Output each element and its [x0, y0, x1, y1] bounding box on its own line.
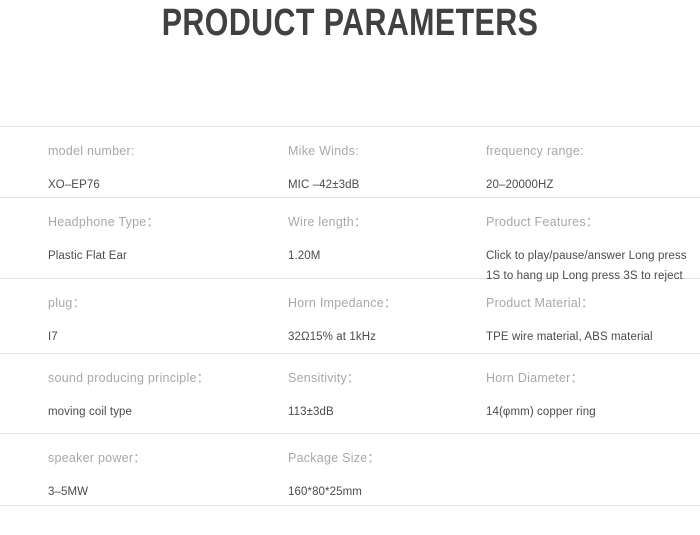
- spec-value-line: 32Ω15% at 1kHz: [288, 327, 480, 347]
- spec-value: 1.20M: [288, 246, 480, 266]
- spec-label: Headphone Type：: [48, 214, 280, 230]
- spec-cell: Mike Winds:MIC –42±3dB: [288, 143, 480, 195]
- spec-value-line: XO–EP76: [48, 175, 280, 195]
- spec-cell: plug：I7: [48, 295, 280, 347]
- table-row-cells: plug：I7Horn Impedance：32Ω15% at 1kHzProd…: [0, 295, 700, 340]
- spec-cell: speaker power：3–5MW: [48, 450, 280, 502]
- spec-cell: Wire length：1.20M: [288, 214, 480, 266]
- spec-value: XO–EP76: [48, 175, 280, 195]
- spec-value: Plastic Flat Ear: [48, 246, 280, 266]
- spec-label: Wire length：: [288, 214, 480, 230]
- spec-cell: Package Size：160*80*25mm: [288, 450, 480, 502]
- spec-cell: model number:XO–EP76: [48, 143, 280, 195]
- specification-table: model number:XO–EP76Mike Winds:MIC –42±3…: [0, 126, 700, 506]
- spec-cell: Headphone Type：Plastic Flat Ear: [48, 214, 280, 266]
- spec-label: speaker power：: [48, 450, 280, 466]
- spec-value: 20–20000HZ: [486, 175, 700, 195]
- spec-cell: Product Material：TPE wire material, ABS …: [486, 295, 700, 347]
- spec-label: Package Size：: [288, 450, 480, 466]
- spec-label: Horn Diameter：: [486, 370, 700, 386]
- table-row-cells: speaker power：3–5MWPackage Size：160*80*2…: [0, 450, 700, 492]
- table-row-cells: Headphone Type：Plastic Flat EarWire leng…: [0, 214, 700, 265]
- table-row: Headphone Type：Plastic Flat EarWire leng…: [0, 198, 700, 279]
- spec-cell: Product Features：Click to play/pause/ans…: [486, 214, 700, 286]
- table-row: model number:XO–EP76Mike Winds:MIC –42±3…: [0, 126, 700, 198]
- table-row: sound producing principle：moving coil ty…: [0, 354, 700, 434]
- spec-label: Product Features：: [486, 214, 700, 230]
- table-row: speaker power：3–5MWPackage Size：160*80*2…: [0, 434, 700, 506]
- spec-label: sound producing principle：: [48, 370, 280, 386]
- spec-cell: Horn Impedance：32Ω15% at 1kHz: [288, 295, 480, 347]
- spec-cell: Horn Diameter：14(φmm) copper ring: [486, 370, 700, 422]
- spec-label: Mike Winds:: [288, 143, 480, 159]
- spec-value: I7: [48, 327, 280, 347]
- spec-label: Horn Impedance：: [288, 295, 480, 311]
- spec-value: TPE wire material, ABS material: [486, 327, 700, 347]
- spec-value-line: Plastic Flat Ear: [48, 246, 280, 266]
- spec-value: 3–5MW: [48, 482, 280, 502]
- spec-value-line: MIC –42±3dB: [288, 175, 480, 195]
- spec-label: Sensitivity：: [288, 370, 480, 386]
- spec-label: model number:: [48, 143, 280, 159]
- spec-value-line: 160*80*25mm: [288, 482, 480, 502]
- spec-value-line: Click to play/pause/answer Long press: [486, 246, 700, 266]
- spec-value-line: TPE wire material, ABS material: [486, 327, 700, 347]
- page-title: PRODUCT PARAMETERS: [70, 1, 630, 45]
- spec-label: frequency range:: [486, 143, 700, 159]
- spec-label: plug：: [48, 295, 280, 311]
- spec-value: 113±3dB: [288, 402, 480, 422]
- table-row: plug：I7Horn Impedance：32Ω15% at 1kHzProd…: [0, 279, 700, 354]
- spec-value-line: 14(φmm) copper ring: [486, 402, 700, 422]
- spec-value: 14(φmm) copper ring: [486, 402, 700, 422]
- table-row-cells: sound producing principle：moving coil ty…: [0, 370, 700, 420]
- spec-value-line: I7: [48, 327, 280, 347]
- product-parameters-page: PRODUCT PARAMETERS model number:XO–EP76M…: [0, 0, 700, 535]
- spec-value-line: 113±3dB: [288, 402, 480, 422]
- spec-cell: Sensitivity：113±3dB: [288, 370, 480, 422]
- spec-value: 160*80*25mm: [288, 482, 480, 502]
- spec-value-line: 3–5MW: [48, 482, 280, 502]
- spec-label: Product Material：: [486, 295, 700, 311]
- table-row-cells: model number:XO–EP76Mike Winds:MIC –42±3…: [0, 143, 700, 184]
- spec-value-line: 1.20M: [288, 246, 480, 266]
- spec-cell: sound producing principle：moving coil ty…: [48, 370, 280, 422]
- spec-value-line: 20–20000HZ: [486, 175, 700, 195]
- spec-value-line: moving coil type: [48, 402, 280, 422]
- spec-value: 32Ω15% at 1kHz: [288, 327, 480, 347]
- spec-value: MIC –42±3dB: [288, 175, 480, 195]
- spec-value: moving coil type: [48, 402, 280, 422]
- spec-cell: frequency range:20–20000HZ: [486, 143, 700, 195]
